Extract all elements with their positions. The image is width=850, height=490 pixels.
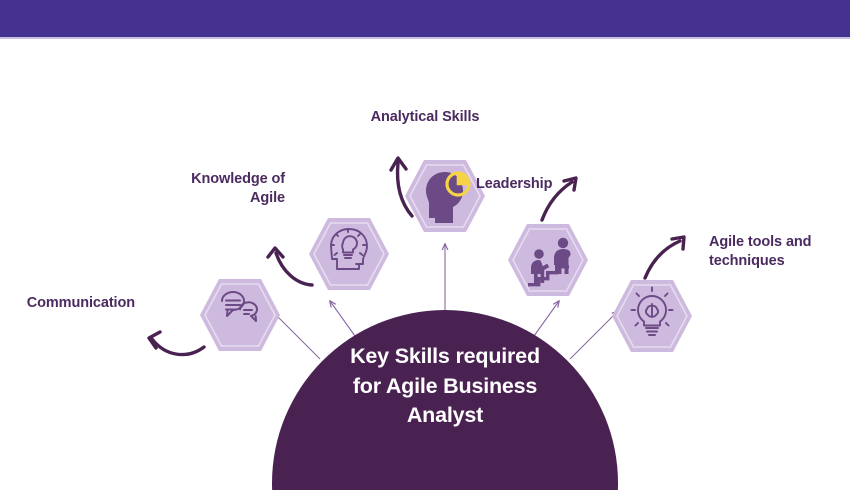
hexagon-shape bbox=[508, 224, 588, 296]
skill-label-communication: Communication bbox=[0, 294, 135, 313]
skill-label-knowledge-of-agile: Knowledge of Agile bbox=[145, 170, 285, 208]
curved-arrow-agile-tools bbox=[645, 241, 680, 278]
skill-label-analytical-skills: Analytical Skills bbox=[345, 108, 505, 127]
header-bar bbox=[0, 0, 850, 37]
central-dome: Key Skills required for Agile Business A… bbox=[272, 310, 618, 490]
central-dome-title: Key Skills required for Agile Business A… bbox=[272, 342, 618, 431]
hex-node-analytical-skills[interactable] bbox=[403, 158, 487, 234]
hex-node-agile-tools-and-techniques[interactable] bbox=[610, 278, 694, 354]
curved-arrow-communication bbox=[152, 339, 204, 355]
hex-node-knowledge-of-agile[interactable] bbox=[307, 216, 391, 292]
infographic-canvas: Communication Knowledge of Agile Analyti… bbox=[0, 39, 850, 450]
skill-label-agile-tools-and-techniques: Agile tools and techniques bbox=[709, 233, 821, 271]
hex-node-communication[interactable] bbox=[198, 277, 282, 353]
hexagon-shape bbox=[200, 279, 280, 351]
hex-node-leadership[interactable] bbox=[506, 222, 590, 298]
skill-label-leadership: Leadership bbox=[476, 175, 588, 194]
